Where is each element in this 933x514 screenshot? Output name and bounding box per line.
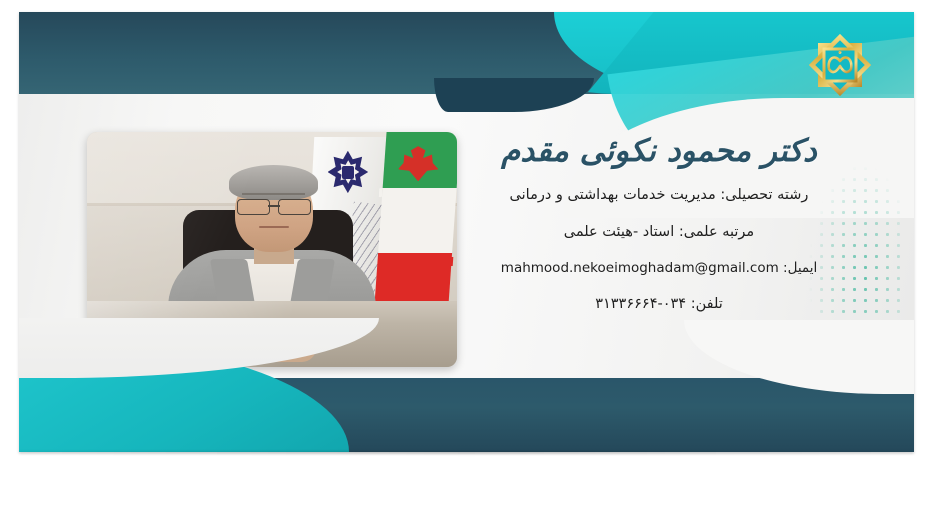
card-shadow-edge: [19, 451, 914, 454]
email-line: ایمیل: mahmood.nekoeimoghadam@gmail.com: [459, 258, 859, 278]
page-title: دکتر محمود نکوئی مقدم: [459, 132, 859, 171]
profile-info: دکتر محمود نکوئی مقدم رشته تحصیلی: مدیری…: [459, 132, 859, 330]
profile-card: دکتر محمود نکوئی مقدم رشته تحصیلی: مدیری…: [19, 12, 914, 452]
phone-line: تلفن: ۰۳۴-۳۱۳۳۶۶۶۴: [459, 294, 859, 316]
field-of-study-line: رشته تحصیلی: مدیریت خدمات بهداشتی و درما…: [459, 185, 859, 207]
poster-canvas: دکتر محمود نکوئی مقدم رشته تحصیلی: مدیری…: [0, 0, 933, 514]
eight-point-star-ornament: [809, 34, 871, 96]
academic-rank-line: مرتبه علمی: استاد -هیئت علمی: [459, 222, 859, 244]
